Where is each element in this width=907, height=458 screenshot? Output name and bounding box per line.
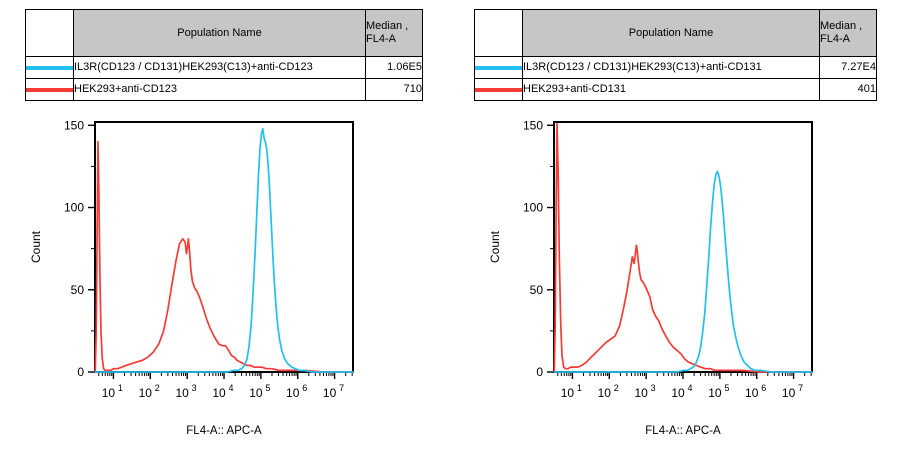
- x-axis: 101102103104105106107: [558, 372, 811, 400]
- x-tick-label: 10: [561, 386, 575, 400]
- y-tick-label: 0: [77, 365, 84, 379]
- x-tick-exponent: 5: [265, 383, 270, 393]
- legend-table: Population Name Median , FL4-A IL3R(CD12…: [474, 9, 877, 101]
- header-median-line1: Median ,: [366, 20, 422, 33]
- x-tick-exponent: 4: [229, 383, 234, 393]
- x-tick-label: 10: [598, 386, 612, 400]
- series-curve: [95, 129, 353, 372]
- table-row[interactable]: IL3R(CD123 / CD131)HEK293(C13)+anti-CD12…: [26, 57, 423, 79]
- x-tick-label: 10: [671, 386, 685, 400]
- legend-swatch: [26, 57, 73, 78]
- swatch-line-cyan: [26, 66, 73, 70]
- header-population-name: Population Name: [523, 10, 820, 57]
- x-tick-label: 10: [102, 386, 116, 400]
- histogram-plot: 050100150 101102103104105106107 Count FL…: [0, 108, 453, 453]
- population-name-value: HEK293+anti-CD123: [74, 79, 366, 101]
- y-axis-label: Count: [29, 230, 43, 263]
- histogram-svg: 050100150 101102103104105106107 Count FL…: [454, 108, 907, 453]
- panel-cd131: Population Name Median , FL4-A IL3R(CD12…: [454, 0, 907, 453]
- x-tick-label: 10: [249, 386, 263, 400]
- swatch-line-cyan: [475, 66, 522, 70]
- legend-swatch: [475, 79, 522, 100]
- plot-frame: [95, 122, 353, 372]
- x-tick-exponent: 1: [577, 383, 582, 393]
- series-curve: [554, 171, 812, 372]
- histogram-svg: 050100150 101102103104105106107 Count FL…: [0, 108, 453, 453]
- x-tick-label: 10: [634, 386, 648, 400]
- swatch-line-red: [475, 88, 522, 92]
- plot-border: [95, 122, 353, 372]
- y-axis-label: Count: [488, 230, 502, 263]
- x-tick-exponent: 5: [724, 383, 729, 393]
- y-tick-label: 50: [71, 283, 85, 297]
- header-population-name: Population Name: [74, 10, 366, 57]
- series-curve: [554, 124, 812, 372]
- median-value: 401: [820, 79, 877, 101]
- y-tick-label: 100: [523, 201, 543, 215]
- x-tick-label: 10: [175, 386, 189, 400]
- median-value: 7.27E4: [820, 57, 877, 79]
- legend-swatch-cell: [475, 79, 523, 101]
- x-axis-label: FL4-A:: APC-A: [186, 425, 262, 437]
- x-tick-exponent: 2: [614, 383, 619, 393]
- series-curve: [95, 142, 353, 372]
- header-median-line2: FL4-A: [366, 33, 422, 46]
- median-value: 710: [366, 79, 423, 101]
- y-axis: 050100150: [523, 118, 554, 379]
- x-tick-label: 10: [782, 386, 796, 400]
- x-tick-label: 10: [286, 386, 300, 400]
- header-swatch-cell: [475, 10, 523, 57]
- legend-swatch-cell: [475, 57, 523, 79]
- y-axis: 050100150: [64, 118, 95, 379]
- header-swatch-cell: [26, 10, 74, 57]
- x-tick-label: 10: [323, 386, 337, 400]
- table-row[interactable]: IL3R(CD123 / CD131)HEK293(C13)+anti-CD13…: [475, 57, 877, 79]
- header-median-line1: Median ,: [820, 20, 876, 33]
- table-row[interactable]: HEK293+anti-CD131 401: [475, 79, 877, 101]
- population-name-value: IL3R(CD123 / CD131)HEK293(C13)+anti-CD13…: [523, 57, 820, 79]
- x-tick-exponent: 6: [761, 383, 766, 393]
- median-value: 1.06E5: [366, 57, 423, 79]
- legend-header-row: Population Name Median , FL4-A: [26, 10, 423, 57]
- x-tick-label: 10: [708, 386, 722, 400]
- legend-swatch-cell: [26, 57, 74, 79]
- x-tick-exponent: 7: [339, 383, 344, 393]
- series-group: [95, 129, 353, 372]
- table-row[interactable]: HEK293+anti-CD123 710: [26, 79, 423, 101]
- x-tick-label: 10: [212, 386, 226, 400]
- plot-border: [554, 122, 812, 372]
- plot-frame: [554, 122, 812, 372]
- x-tick-exponent: 7: [798, 383, 803, 393]
- x-tick-exponent: 6: [302, 383, 307, 393]
- swatch-line-red: [26, 88, 73, 92]
- legend-swatch: [475, 57, 522, 78]
- series-group: [554, 124, 812, 372]
- panel-cd123: Population Name Median , FL4-A IL3R(CD12…: [0, 0, 453, 453]
- population-name-value: IL3R(CD123 / CD131)HEK293(C13)+anti-CD12…: [74, 57, 366, 79]
- header-median: Median , FL4-A: [366, 10, 423, 57]
- x-axis: 101102103104105106107: [99, 372, 352, 400]
- y-tick-label: 100: [64, 201, 84, 215]
- y-tick-label: 150: [64, 118, 84, 132]
- x-axis-label: FL4-A:: APC-A: [645, 425, 721, 437]
- header-median-line2: FL4-A: [820, 33, 876, 46]
- y-tick-label: 50: [530, 283, 544, 297]
- histogram-plot: 050100150 101102103104105106107 Count FL…: [454, 108, 907, 453]
- x-tick-exponent: 4: [688, 383, 693, 393]
- x-tick-exponent: 3: [651, 383, 656, 393]
- legend-swatch-cell: [26, 79, 74, 101]
- x-tick-exponent: 2: [155, 383, 160, 393]
- x-tick-exponent: 1: [118, 383, 123, 393]
- legend-swatch: [26, 79, 73, 100]
- x-tick-label: 10: [139, 386, 153, 400]
- header-median: Median , FL4-A: [820, 10, 877, 57]
- legend-header-row: Population Name Median , FL4-A: [475, 10, 877, 57]
- y-tick-label: 150: [523, 118, 543, 132]
- y-tick-label: 0: [536, 365, 543, 379]
- x-tick-exponent: 3: [192, 383, 197, 393]
- x-tick-label: 10: [745, 386, 759, 400]
- legend-table: Population Name Median , FL4-A IL3R(CD12…: [25, 9, 423, 101]
- population-name-value: HEK293+anti-CD131: [523, 79, 820, 101]
